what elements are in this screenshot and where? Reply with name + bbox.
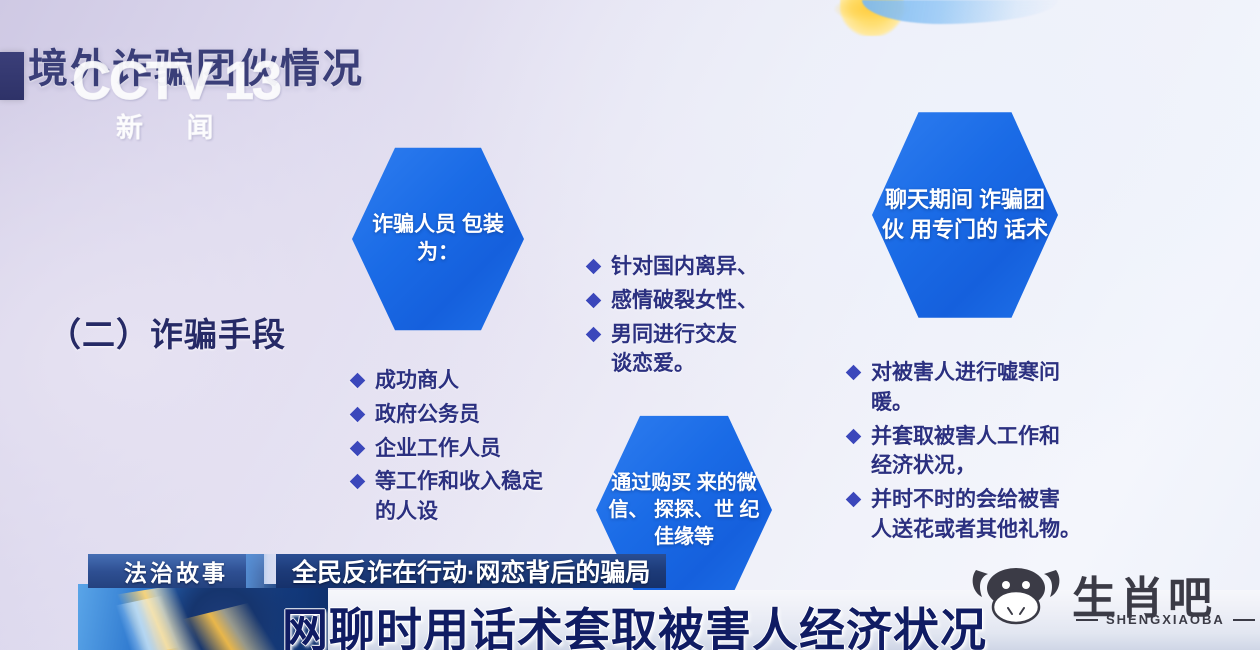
category-badge: 法治故事 bbox=[88, 554, 264, 588]
diamond-bullet-icon bbox=[846, 365, 862, 381]
hexagon-callout-fraudster-persona: 诈骗人员 包装为： bbox=[352, 144, 524, 334]
diamond-bullet-icon bbox=[350, 440, 366, 456]
tv-broadcast-frame: 境外诈骗团伙情况 CCTV 13 新 闻 （二）诈骗手段 诈骗人员 包装为： 聊… bbox=[0, 0, 1260, 650]
list-item: 并套取被害人工作和 经济状况， bbox=[848, 422, 1148, 482]
list-item-label: 并套取被害人工作和 经济状况， bbox=[871, 422, 1060, 482]
list-item: 针对国内离异、 bbox=[588, 252, 808, 282]
diamond-bullet-icon bbox=[846, 492, 862, 508]
diamond-bullet-icon bbox=[350, 407, 366, 423]
wave-shape bbox=[862, 0, 1058, 24]
sun-icon bbox=[840, 0, 904, 36]
diamond-bullet-icon bbox=[350, 373, 366, 389]
lower-third-banner: 法治故事 全民反诈在行动·网恋背后的骗局 网聊时用话术套取被害人经济状况 bbox=[0, 554, 1260, 650]
list-item: 等工作和收入稳定 的人设 bbox=[352, 467, 582, 527]
list-item: 感情破裂女性、 bbox=[588, 286, 808, 316]
list-item-label: 等工作和收入稳定 的人设 bbox=[375, 467, 543, 527]
list-item: 成功商人 bbox=[352, 366, 582, 396]
hexagon-label: 聊天期间 诈骗团伙 用专门的 话术 bbox=[872, 185, 1058, 244]
top-decorative-graphic bbox=[828, 0, 1058, 28]
list-item-label: 企业工作人员 bbox=[375, 434, 501, 464]
list-item-label: 感情破裂女性、 bbox=[611, 286, 758, 316]
list-item-label: 成功商人 bbox=[375, 366, 459, 396]
list-item: 政府公务员 bbox=[352, 400, 582, 430]
section-heading: （二）诈骗手段 bbox=[48, 308, 286, 356]
category-label: 法治故事 bbox=[124, 554, 228, 588]
headline-text: 网聊时用话术套取被害人经济状况 bbox=[282, 594, 987, 650]
list-item-label: 并时不时的会给被害 人送花或者其他礼物。 bbox=[871, 485, 1081, 545]
hexagon-label: 诈骗人员 包装为： bbox=[352, 211, 524, 268]
diamond-bullet-icon bbox=[586, 259, 602, 275]
bullet-list-personas: 成功商人 政府公务员 企业工作人员 等工作和收入稳定 的人设 bbox=[352, 366, 582, 531]
title-accent-bar bbox=[0, 52, 24, 100]
list-item: 企业工作人员 bbox=[352, 434, 582, 464]
diamond-bullet-icon bbox=[350, 474, 366, 490]
list-item: 对被害人进行嘘寒问 暖。 bbox=[848, 358, 1148, 418]
list-item: 并时不时的会给被害 人送花或者其他礼物。 bbox=[848, 485, 1148, 545]
list-item-label: 对被害人进行嘘寒问 暖。 bbox=[871, 358, 1060, 418]
bullet-list-targets: 针对国内离异、 感情破裂女性、 男同进行交友 谈恋爱。 bbox=[588, 252, 808, 383]
list-item-label: 男同进行交友 谈恋爱。 bbox=[611, 320, 737, 380]
program-title-label: 全民反诈在行动·网恋背后的骗局 bbox=[292, 553, 650, 589]
program-title-bar: 全民反诈在行动·网恋背后的骗局 bbox=[276, 554, 666, 588]
list-item: 男同进行交友 谈恋爱。 bbox=[588, 320, 808, 380]
hexagon-label: 通过购买 来的微信、 探探、世 纪佳缘等 bbox=[596, 470, 772, 551]
diamond-bullet-icon bbox=[586, 326, 602, 342]
cctv-logo-subtext: 新 闻 bbox=[116, 106, 232, 145]
slide-title: 境外诈骗团伙情况 bbox=[28, 36, 364, 94]
hexagon-callout-chat-script: 聊天期间 诈骗团伙 用专门的 话术 bbox=[872, 108, 1058, 322]
diamond-bullet-icon bbox=[586, 293, 602, 309]
list-item-label: 政府公务员 bbox=[375, 400, 480, 430]
diamond-bullet-icon bbox=[846, 428, 862, 444]
list-item-label: 针对国内离异、 bbox=[611, 252, 758, 282]
bullet-list-tactics: 对被害人进行嘘寒问 暖。 并套取被害人工作和 经济状况， 并时不时的会给被害 人… bbox=[848, 358, 1148, 549]
